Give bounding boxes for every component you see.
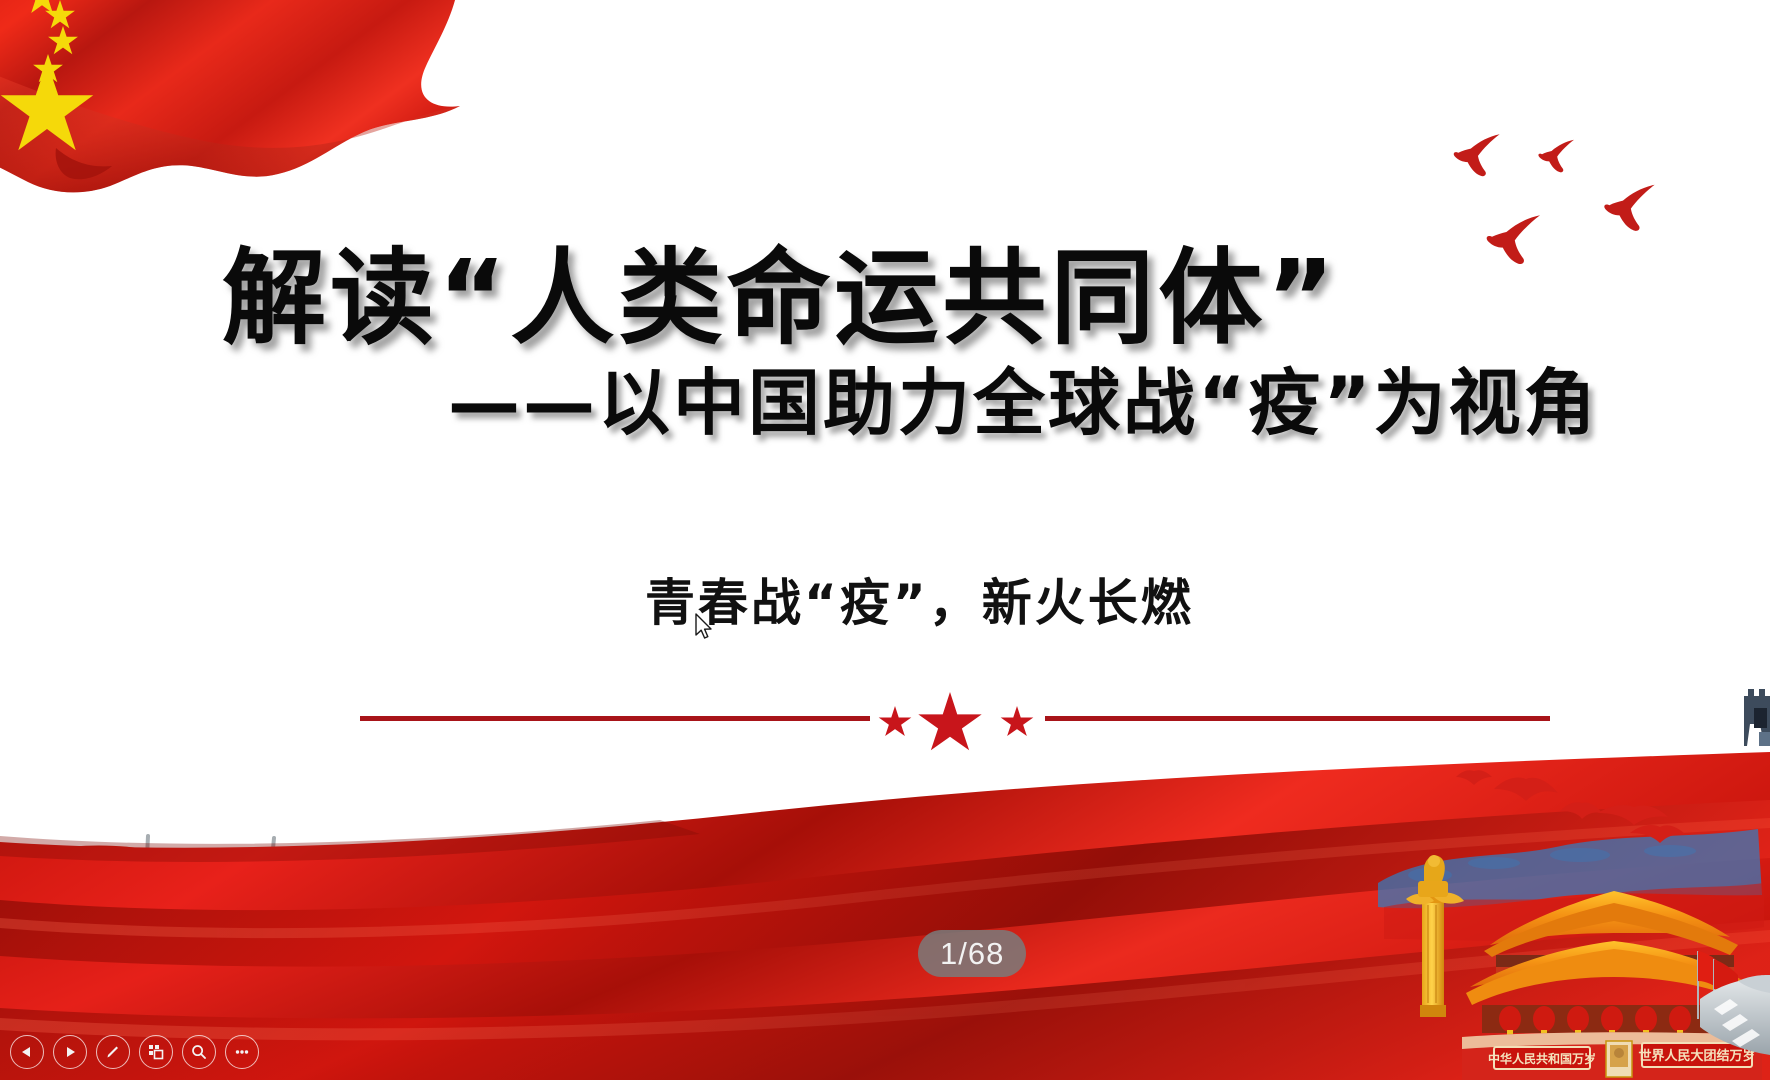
next-slide-button[interactable] <box>53 1035 87 1069</box>
dove-icon-3 <box>1480 208 1552 280</box>
annotate-pen-button[interactable] <box>96 1035 130 1069</box>
viewer-toolbar[interactable] <box>10 1032 259 1072</box>
previous-slide-button[interactable] <box>10 1035 44 1069</box>
star-divider <box>360 690 1550 750</box>
divider-star-small-right <box>1000 706 1034 739</box>
pen-icon <box>104 1043 122 1061</box>
slide-title-main: 解读“人类命运共同体” <box>222 240 1339 356</box>
triangle-left-icon <box>20 1045 34 1059</box>
tiananmen-banner-right: 世界人民大团结万岁 <box>1638 1048 1755 1064</box>
thumbnail-grid-button[interactable] <box>139 1035 173 1069</box>
tiananmen-banner-left: 中华人民共和国万岁 <box>1488 1051 1596 1066</box>
dove-icon-1 <box>1448 128 1510 190</box>
divider-star-large <box>917 692 983 756</box>
divider-star-small-left <box>878 706 912 739</box>
grid-layout-icon <box>147 1043 165 1061</box>
china-national-flag <box>0 0 480 220</box>
great-wall-watchtower <box>1742 682 1770 754</box>
zoom-search-button[interactable] <box>182 1035 216 1069</box>
dove-icon-4 <box>1598 178 1666 246</box>
dove-icon-2 <box>1534 135 1582 183</box>
more-options-button[interactable] <box>225 1035 259 1069</box>
tiananmen-gate-illustration: 中华人民共和国万岁 世界人民大团结万岁 <box>1370 755 1770 1080</box>
divider-line-right <box>1045 716 1550 721</box>
slide-title-subtitle: ——以中国助力全球战“疫”为视角 <box>448 362 1599 445</box>
slide-tagline: 青春战“疫”，新火长燃 <box>645 563 1194 635</box>
magnifier-icon <box>190 1043 208 1061</box>
triangle-right-icon <box>63 1045 77 1059</box>
divider-line-left <box>360 716 870 721</box>
page-indicator: 1/68 <box>918 930 1026 977</box>
presentation-slide[interactable]: 解读“人类命运共同体” ——以中国助力全球战“疫”为视角 青春战“疫”，新火长燃 <box>0 0 1770 1080</box>
ellipsis-icon <box>233 1043 251 1061</box>
